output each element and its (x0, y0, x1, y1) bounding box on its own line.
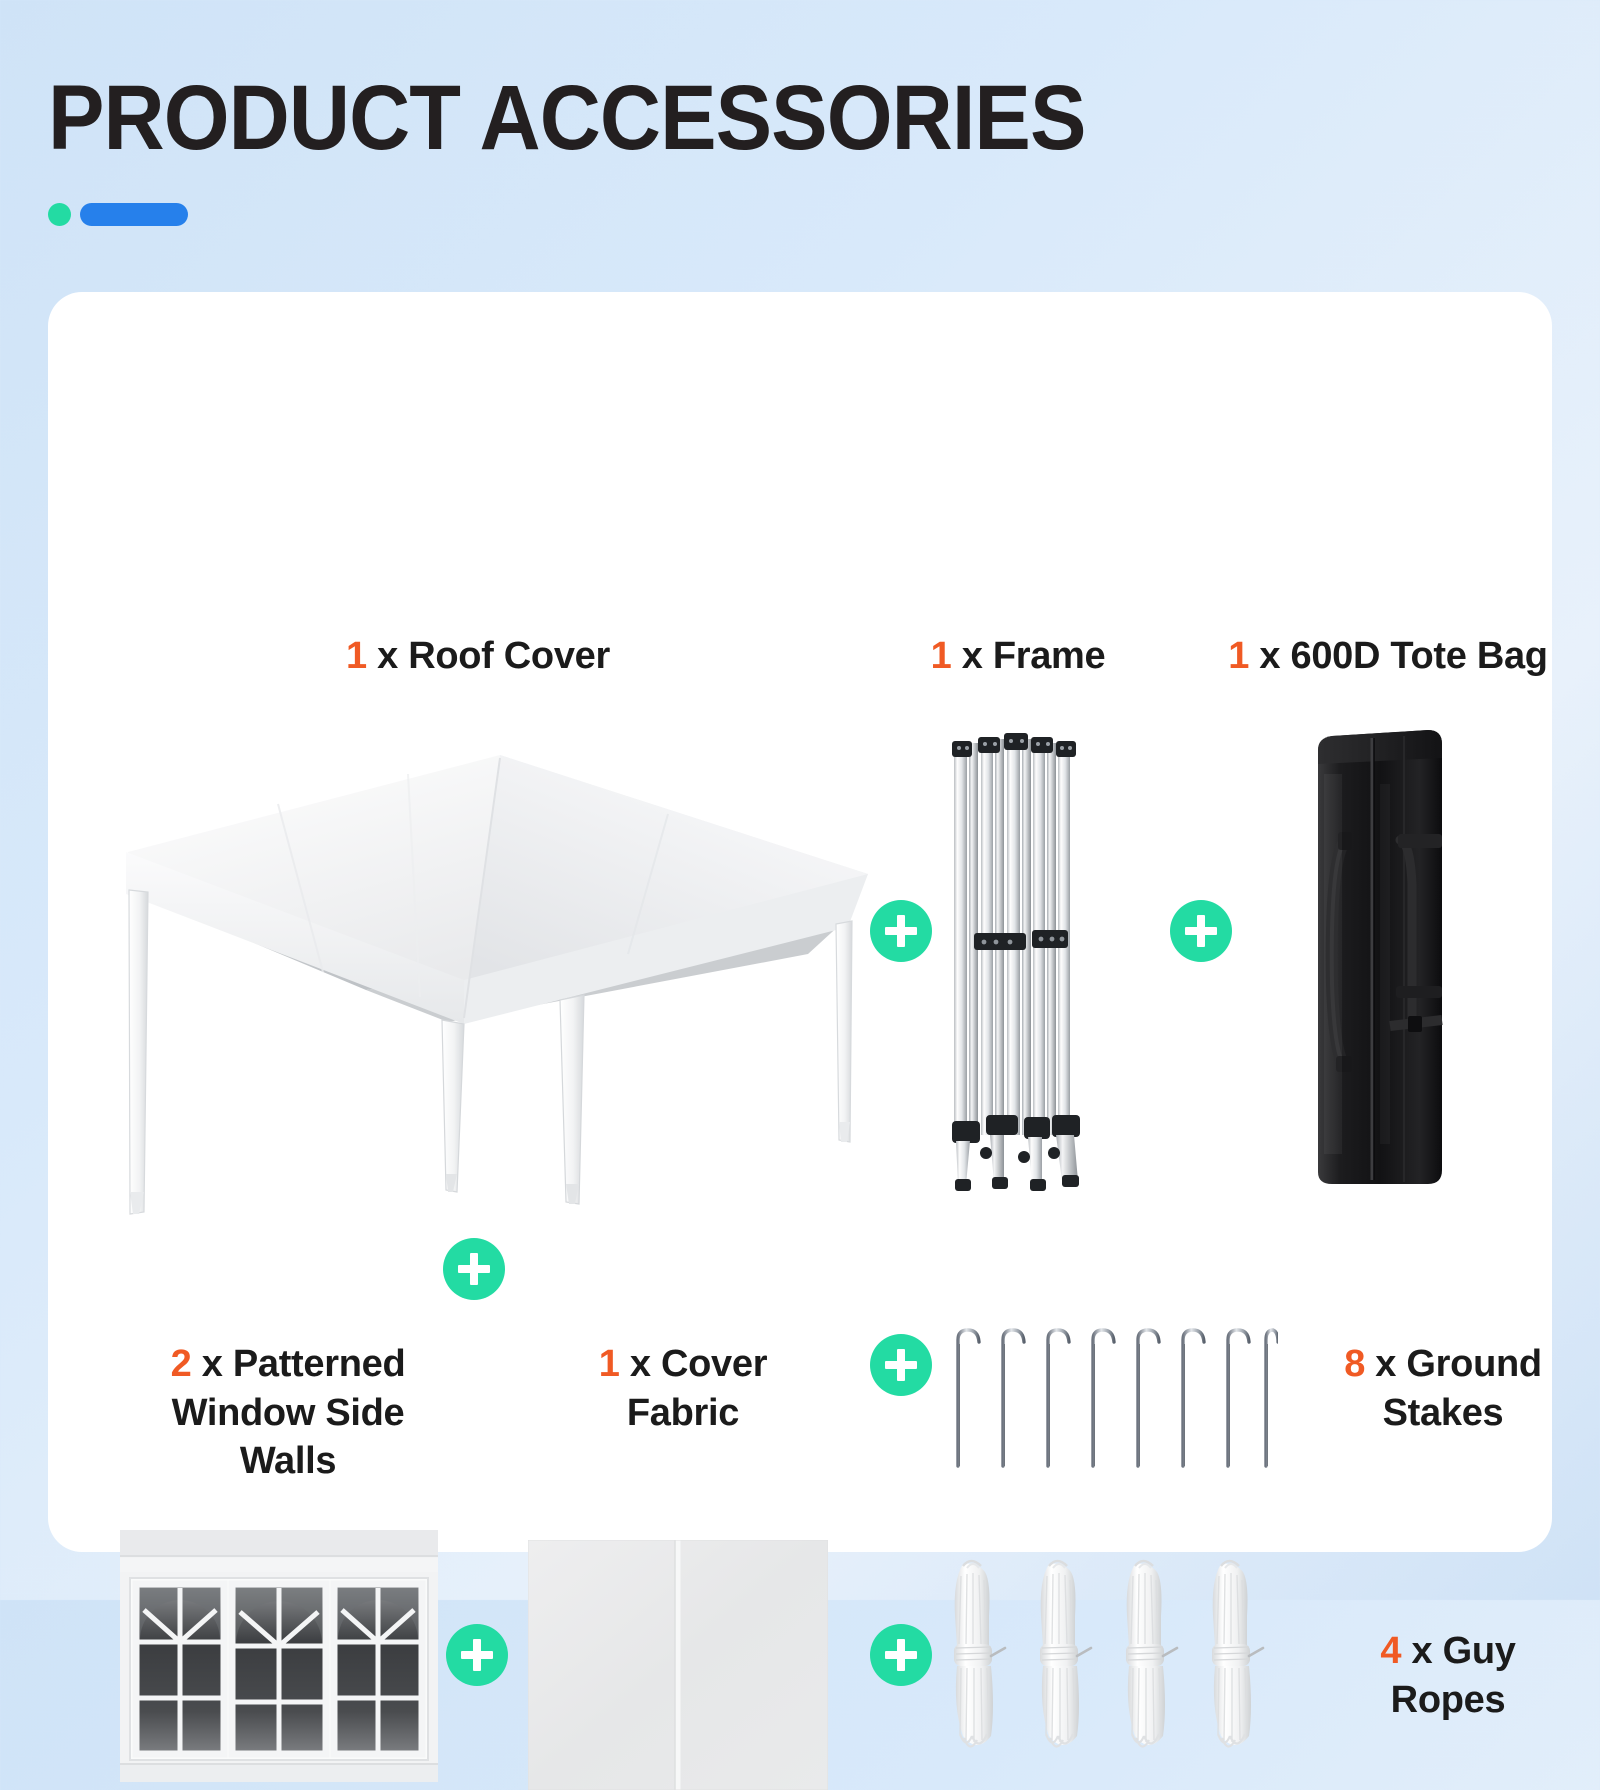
accessories-card: 1 x Roof Cover 1 x Frame 1 x 600D Tote B… (48, 292, 1552, 1552)
plus-badge-icon (1170, 900, 1232, 962)
plus-badge-icon (870, 1334, 932, 1396)
name-side-walls-line1: Patterned (233, 1343, 406, 1385)
sep-ground-stakes: x (1375, 1343, 1396, 1385)
guy-ropes-image (943, 1554, 1273, 1754)
qty-guy-ropes: 4 (1380, 1630, 1401, 1672)
sep-frame: x (962, 635, 983, 677)
qty-roof-cover: 1 (346, 635, 367, 677)
label-ground-stakes: 8 x Ground Stakes (1278, 1340, 1600, 1437)
label-tote-bag: 1 x 600D Tote Bag (1178, 632, 1598, 681)
name-roof-cover: Roof Cover (408, 635, 610, 677)
qty-frame: 1 (931, 635, 952, 677)
label-cover-fabric: 1 x Cover Fabric (518, 1340, 848, 1437)
qty-ground-stakes: 8 (1344, 1343, 1365, 1385)
qty-side-walls: 2 (171, 1343, 192, 1385)
name-side-walls-line2: Window Side (108, 1389, 468, 1438)
name-tote-bag: 600D Tote Bag (1290, 635, 1547, 677)
name-ground-stakes-line1: Ground (1406, 1343, 1541, 1385)
plus-badge-icon (443, 1238, 505, 1300)
name-ground-stakes-line2: Stakes (1278, 1389, 1600, 1438)
header: PRODUCT ACCESSORIES (48, 70, 1548, 226)
ground-stakes-image (948, 1294, 1278, 1472)
plus-badge-icon (870, 1624, 932, 1686)
label-frame: 1 x Frame (838, 632, 1198, 681)
name-guy-ropes-line2: Ropes (1298, 1676, 1598, 1725)
plus-badge-icon (870, 900, 932, 962)
accent-bar (48, 203, 1548, 226)
sep-tote-bag: x (1259, 635, 1280, 677)
qty-cover-fabric: 1 (599, 1343, 620, 1385)
window-side-wall-image (120, 1530, 438, 1782)
name-guy-ropes-line1: Guy (1443, 1630, 1516, 1672)
sep-side-walls: x (202, 1343, 223, 1385)
cover-fabric-image (528, 1540, 828, 1790)
accent-pill-icon (80, 203, 188, 226)
name-cover-fabric-line2: Fabric (518, 1389, 848, 1438)
sep-guy-ropes: x (1411, 1630, 1432, 1672)
plus-badge-icon (446, 1624, 508, 1686)
name-side-walls-line3: Walls (108, 1437, 468, 1486)
label-roof-cover: 1 x Roof Cover (158, 632, 798, 681)
folded-frame-image (928, 717, 1098, 1192)
black-tote-bag-image (1310, 724, 1450, 1190)
page-title: PRODUCT ACCESSORIES (48, 70, 1428, 167)
name-frame: Frame (993, 635, 1106, 677)
label-side-walls: 2 x Patterned Window Side Walls (108, 1340, 468, 1486)
canopy-tent-image (108, 722, 868, 1222)
name-cover-fabric-line1: Cover (661, 1343, 767, 1385)
accent-dot-icon (48, 203, 71, 226)
sep-roof-cover: x (377, 635, 398, 677)
sep-cover-fabric: x (630, 1343, 651, 1385)
qty-tote-bag: 1 (1228, 635, 1249, 677)
label-guy-ropes: 4 x Guy Ropes (1298, 1627, 1598, 1724)
